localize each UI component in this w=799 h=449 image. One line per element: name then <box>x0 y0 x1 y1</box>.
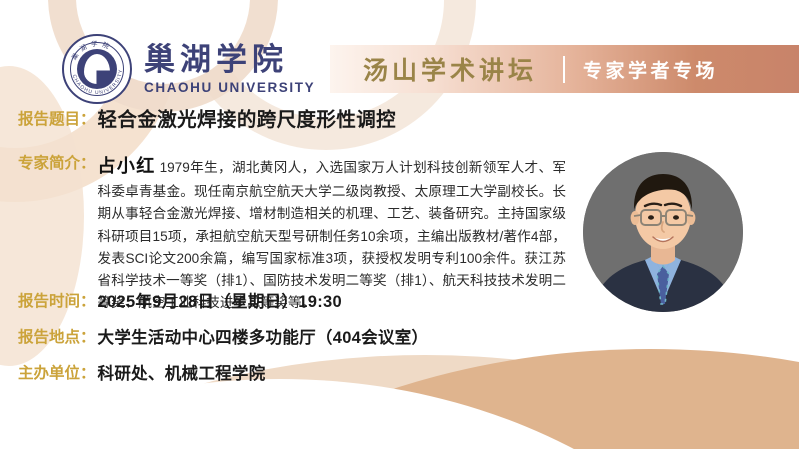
speaker-name: 占小红 <box>98 156 156 176</box>
value-report-time: 2025年9月28日（星期日）19:30 <box>98 290 342 315</box>
row-organizer: 主办单位 ： 科研处、机械工程学院 <box>18 362 266 387</box>
colon-report-place: ： <box>80 326 96 350</box>
speaker-portrait <box>583 152 743 312</box>
colon-report-title: ： <box>80 108 96 132</box>
label-organizer: 主办单位 <box>18 362 80 386</box>
value-report-title: 轻合金激光焊接的跨尺度形性调控 <box>98 108 397 132</box>
colon-report-time: ： <box>80 290 96 314</box>
label-report-time: 报告时间 <box>18 290 80 314</box>
value-organizer: 科研处、机械工程学院 <box>98 362 266 387</box>
row-report-place: 报告地点 ： 大学生活动中心四楼多功能厅（404会议室） <box>18 326 428 351</box>
lecture-poster: 巢 湖 学 院 CHAOHU UNIVERSITY 巢湖学院 CHAOHU UN… <box>0 0 799 449</box>
row-report-title: 报告题目 ： 轻合金激光焊接的跨尺度形性调控 <box>18 108 396 132</box>
label-speaker-bio: 专家简介 <box>18 152 80 176</box>
row-report-time: 报告时间 ： 2025年9月28日（星期日）19:30 <box>18 290 342 315</box>
poster-content: 报告题目 ： 轻合金激光焊接的跨尺度形性调控 专家简介 ： 占小红1979年生，… <box>0 0 799 449</box>
colon-speaker-bio: ： <box>80 152 96 176</box>
speaker-portrait-image <box>583 152 743 312</box>
speaker-bio-text: 1979年生，湖北黄冈人，入选国家万人计划科技创新领军人才、军科委卓青基金。现任… <box>98 160 566 310</box>
value-report-place: 大学生活动中心四楼多功能厅（404会议室） <box>98 326 429 351</box>
label-report-title: 报告题目 <box>18 108 80 132</box>
label-report-place: 报告地点 <box>18 326 80 350</box>
colon-organizer: ： <box>80 362 96 386</box>
